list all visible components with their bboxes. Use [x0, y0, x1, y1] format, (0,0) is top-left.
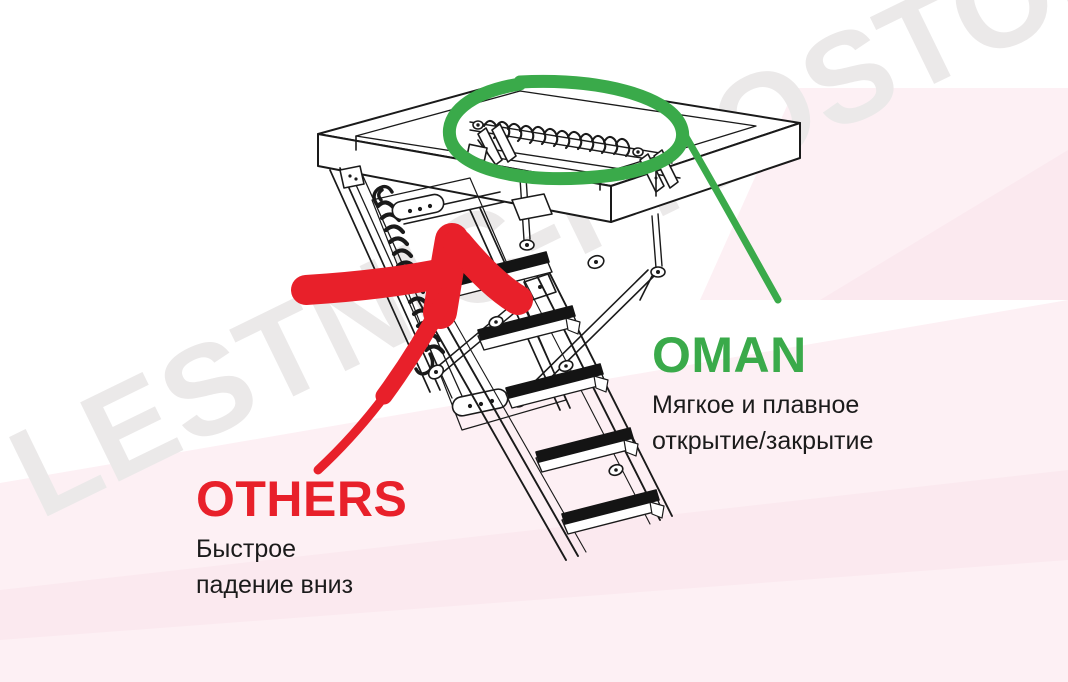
- others-description-line-2: падение вниз: [196, 568, 407, 604]
- oman-description-line-1: Мягкое и плавное: [652, 388, 873, 424]
- others-heading: OTHERS: [196, 474, 407, 524]
- oman-callout: OMAN Мягкое и плавное открытие/закрытие: [652, 330, 873, 459]
- oman-heading: OMAN: [652, 330, 873, 380]
- others-callout: OTHERS Быстрое падение вниз: [196, 474, 407, 603]
- oman-description-line-2: открытие/закрытие: [652, 424, 873, 460]
- text-layer: OMAN Мягкое и плавное открытие/закрытие …: [0, 0, 1068, 682]
- infographic-canvas: LESTNIC-PROSTO.RU: [0, 0, 1068, 682]
- others-description-line-1: Быстрое: [196, 532, 407, 568]
